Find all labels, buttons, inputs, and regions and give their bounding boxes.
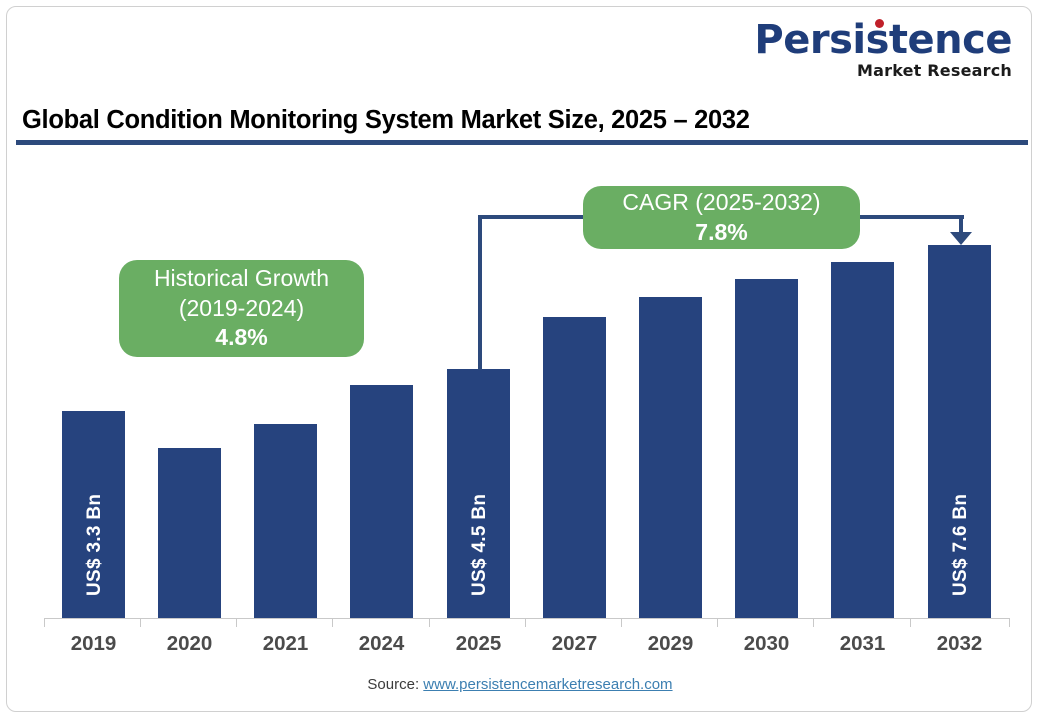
cagr-line1: CAGR (2025-2032)	[622, 188, 820, 217]
historical-growth-value: 4.8%	[215, 323, 267, 352]
company-logo: Persistence Market Research	[754, 20, 1012, 79]
page-title: Global Condition Monitoring System Marke…	[22, 106, 750, 135]
source-prefix: Source:	[367, 676, 423, 693]
historical-growth-line1: Historical Growth	[154, 264, 329, 293]
cagr-value: 7.8%	[695, 218, 747, 247]
cagr-connector-left	[478, 215, 482, 370]
cagr-callout: CAGR (2025-2032) 7.8%	[583, 186, 860, 249]
historical-growth-callout: Historical Growth (2019-2024) 4.8%	[119, 260, 364, 357]
source-note: Source: www.persistencemarketresearch.co…	[0, 676, 1040, 693]
cagr-arrow-icon	[950, 232, 972, 245]
logo-subtitle-text: Market Research	[754, 63, 1012, 79]
source-link[interactable]: www.persistencemarketresearch.com	[423, 676, 672, 693]
historical-growth-line2: (2019-2024)	[179, 294, 304, 323]
chart-page: Persistence Market Research Global Condi…	[0, 0, 1040, 720]
title-underline	[16, 140, 1028, 145]
